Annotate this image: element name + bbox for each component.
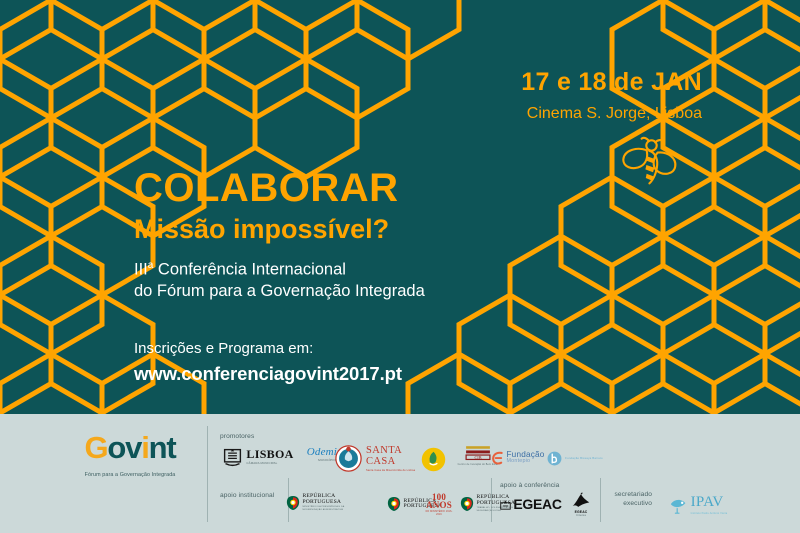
sponsor-logo-yellow-circle[interactable] [420,446,446,472]
sponsor-logo-crest[interactable] [333,444,363,472]
sponsor-subtitle: DO MINISTÉRIO 1916-2016 [424,511,454,517]
sponsor-logo-fundacao-bissaya-barreto[interactable]: Fundação Bissaya Barreto [539,448,611,468]
yellow-circle-logo-icon [421,447,446,472]
sponsor-logo-ipav[interactable]: IPAV Instituto Padre António Vieira [655,493,741,517]
event-venue: Cinema S. Jorge, Lisboa [527,105,702,123]
group-label-secretariado: secretariado executivo [608,491,652,509]
poster-hero: 17 e 18 de JAN Cinema S. Jorge, Lisboa [0,0,800,414]
sponsor-name: EGEAC [513,498,561,512]
sponsor-subtitle: Cinema [563,514,599,517]
sponsor-logo-egeac[interactable]: EGEAC [500,494,562,516]
sponsor-logo-republica-portuguesa-1[interactable]: REPÚBLICA PORTUGUESA MINISTÉRIO DA PRESI… [282,490,362,516]
footer-divider [207,426,208,522]
sponsor-subtitle: MINISTÉRIO DA PRESIDÊNCIA E DA MODERNIZA… [303,506,359,512]
registration-label: Inscrições e Programa em: [134,340,313,358]
footer-divider [600,478,601,522]
sponsor-footer: Govint Fórum para a Governação Integrada… [0,414,800,533]
poster-subheadline: Missão impossível? [134,216,389,243]
group-label-promotores: promotores [220,433,254,440]
egeac-logo-icon [500,500,511,511]
sponsor-subtitle: CÂMARA MUNICIPAL [246,462,293,466]
fundacao-montepio-icon [491,451,504,466]
honeycomb-pattern [0,0,800,414]
sponsor-logo-lisboa[interactable]: LISBOA CÂMARA MUNICIPAL [219,444,297,470]
republica-portuguesa-shield-icon [387,496,401,512]
govint-wordmark: Govint [60,432,200,463]
blue-b-logo-icon [547,451,562,466]
sponsor-logo-100-anos[interactable]: 100 ANOS DO MINISTÉRIO 1916-2016 [424,493,454,517]
conference-poster: 17 e 18 de JAN Cinema S. Jorge, Lisboa [0,0,800,533]
bee-icon [618,136,680,190]
sao-jorge-cinema-icon [570,492,592,509]
sponsor-name: LISBOA [246,449,293,461]
govint-nt: nt [149,430,176,465]
sponsor-logo-santa-casa[interactable]: SANTA CASA Santa Casa da Misericórdia de… [366,446,418,470]
group-label-conferencia: apoio à conferência [500,482,559,489]
sponsor-name: REPÚBLICA PORTUGUESA [303,494,359,505]
registration-url[interactable]: www.conferenciagovint2017.pt [134,363,402,385]
republica-portuguesa-shield-icon [460,496,474,512]
conference-line-2: do Fórum para a Governação Integrada [134,281,425,303]
poster-headline: COLABORAR [134,168,398,208]
govint-ov: ov [107,430,141,465]
conference-description: IIIa Conferência Internacional do Fórum … [134,259,425,303]
sponsor-name: 100 ANOS [424,493,454,510]
lisboa-crest-icon [222,447,243,468]
govint-g: G [85,430,108,465]
govint-i: i [141,430,148,465]
group-label-institucional: apoio institucional [220,492,274,499]
event-date: 17 e 18 de JAN [521,68,702,97]
conference-ordinal: III [134,261,148,279]
circular-crest-icon [335,445,362,472]
sponsor-subtitle: Instituto Padre António Vieira [691,512,728,515]
svg-text:CIB: CIB [474,455,481,460]
sponsor-name: IPAV [691,495,728,510]
conference-title: Conferência Internacional [158,261,346,279]
republica-portuguesa-shield-icon [286,495,300,511]
sponsor-logo-sao-jorge-cinema[interactable]: EGEAC Cinema [563,492,599,518]
conference-ordinal-suffix: a [148,260,154,271]
ipav-logo-icon [669,495,689,515]
govint-logo: Govint Fórum para a Governação Integrada [60,432,200,478]
conference-line-1: IIIa Conferência Internacional [134,259,425,281]
sponsor-name: SANTA CASA [366,446,418,467]
govint-tagline: Fórum para a Governação Integrada [60,472,200,478]
sponsor-subtitle: Santa Casa da Misericórdia de Lisboa [366,469,418,472]
sponsor-subtitle: Fundação Bissaya Barreto [565,457,603,461]
